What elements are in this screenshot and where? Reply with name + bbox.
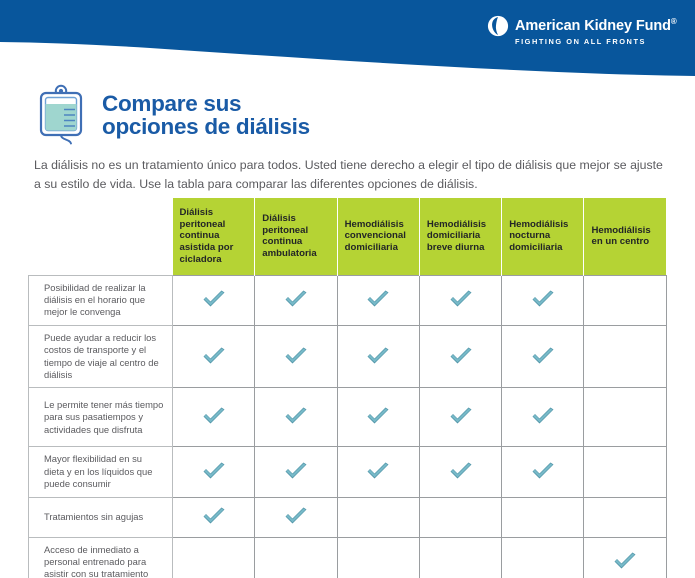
- cell-checked: [502, 325, 584, 388]
- row-label: Mayor flexibilidad en su dieta y en los …: [29, 447, 173, 497]
- cell-checked: [337, 388, 419, 447]
- cell-checked: [419, 447, 501, 497]
- cell-checked: [173, 497, 255, 537]
- logo-text-block: American Kidney Fund® FIGHTING ON ALL FR…: [515, 14, 677, 46]
- checkmark-icon: [283, 507, 309, 527]
- page-title-line2: opciones de diálisis: [102, 115, 310, 138]
- page-title-row: Compare sus opciones de diálisis: [34, 84, 310, 146]
- row-label: Le permite tener más tiempo para sus pas…: [29, 388, 173, 447]
- row-label: Puede ayudar a reducir los costos de tra…: [29, 325, 173, 388]
- checkmark-icon: [530, 347, 556, 367]
- cell-empty: [419, 537, 501, 578]
- iv-bag-icon: [34, 84, 88, 146]
- cell-checked: [173, 447, 255, 497]
- table-head: Diálisis peritoneal continua asistida po…: [29, 198, 667, 275]
- page-title-line1: Compare sus: [102, 92, 310, 115]
- intro-paragraph: La diálisis no es un tratamiento único p…: [34, 156, 666, 194]
- cell-empty: [337, 497, 419, 537]
- cell-empty: [584, 388, 666, 447]
- checkmark-icon: [201, 290, 227, 310]
- table-row: Acceso de inmediato a personal entrenado…: [29, 537, 667, 578]
- cell-empty: [173, 537, 255, 578]
- cell-checked: [502, 388, 584, 447]
- cell-checked: [255, 497, 337, 537]
- cell-empty: [584, 497, 666, 537]
- table-row: Posibilidad de realizar la diálisis en e…: [29, 275, 667, 325]
- checkmark-icon: [365, 347, 391, 367]
- cell-checked: [502, 447, 584, 497]
- cell-checked: [173, 275, 255, 325]
- registered-mark: ®: [671, 17, 677, 26]
- column-header-2: Hemodiálisis convencional domiciliaria: [337, 198, 419, 275]
- cell-checked: [255, 447, 337, 497]
- cell-checked: [337, 325, 419, 388]
- cell-checked: [584, 537, 666, 578]
- table-row: Puede ayudar a reducir los costos de tra…: [29, 325, 667, 388]
- cell-empty: [419, 497, 501, 537]
- checkmark-icon: [530, 407, 556, 427]
- cell-checked: [419, 325, 501, 388]
- checkmark-icon: [530, 290, 556, 310]
- column-header-3: Hemodiálisis domiciliaria breve diurna: [419, 198, 501, 275]
- column-header-5: Hemodiálisis en un centro: [584, 198, 666, 275]
- table-row: Tratamientos sin agujas: [29, 497, 667, 537]
- checkmark-icon: [201, 347, 227, 367]
- table-header-row: Diálisis peritoneal continua asistida po…: [29, 198, 667, 275]
- checkmark-icon: [201, 507, 227, 527]
- cell-empty: [584, 275, 666, 325]
- cell-checked: [173, 325, 255, 388]
- checkmark-icon: [283, 290, 309, 310]
- checkmark-icon: [283, 407, 309, 427]
- checkmark-icon: [365, 462, 391, 482]
- row-label: Acceso de inmediato a personal entrenado…: [29, 537, 173, 578]
- cell-checked: [337, 275, 419, 325]
- table-row: Le permite tener más tiempo para sus pas…: [29, 388, 667, 447]
- cell-checked: [419, 275, 501, 325]
- checkmark-icon: [365, 407, 391, 427]
- checkmark-icon: [448, 462, 474, 482]
- logo: American Kidney Fund® FIGHTING ON ALL FR…: [487, 14, 662, 50]
- table-corner-cell: [29, 198, 173, 275]
- checkmark-icon: [365, 290, 391, 310]
- cell-empty: [502, 497, 584, 537]
- column-header-0: Diálisis peritoneal continua asistida po…: [173, 198, 255, 275]
- cell-checked: [502, 275, 584, 325]
- cell-empty: [584, 325, 666, 388]
- cell-checked: [255, 275, 337, 325]
- row-label: Posibilidad de realizar la diálisis en e…: [29, 275, 173, 325]
- cell-empty: [337, 537, 419, 578]
- cell-empty: [584, 447, 666, 497]
- page-title: Compare sus opciones de diálisis: [102, 92, 310, 138]
- cell-checked: [419, 388, 501, 447]
- page-root: American Kidney Fund® FIGHTING ON ALL FR…: [0, 0, 695, 578]
- cell-checked: [173, 388, 255, 447]
- checkmark-icon: [448, 290, 474, 310]
- table-body: Posibilidad de realizar la diálisis en e…: [29, 275, 667, 578]
- cell-checked: [255, 388, 337, 447]
- column-header-4: Hemodiálisis nocturna domiciliaria: [502, 198, 584, 275]
- logo-tagline: FIGHTING ON ALL FRONTS: [515, 37, 677, 46]
- checkmark-icon: [283, 347, 309, 367]
- kidney-logo-icon: [487, 15, 509, 37]
- checkmark-icon: [448, 407, 474, 427]
- checkmark-icon: [612, 552, 638, 572]
- cell-empty: [502, 537, 584, 578]
- checkmark-icon: [530, 462, 556, 482]
- checkmark-icon: [283, 462, 309, 482]
- checkmark-icon: [201, 407, 227, 427]
- cell-checked: [337, 447, 419, 497]
- dialysis-comparison-table: Diálisis peritoneal continua asistida po…: [28, 198, 667, 578]
- row-label: Tratamientos sin agujas: [29, 497, 173, 537]
- cell-empty: [255, 537, 337, 578]
- checkmark-icon: [201, 462, 227, 482]
- column-header-1: Diálisis peritoneal continua ambulatoria: [255, 198, 337, 275]
- checkmark-icon: [448, 347, 474, 367]
- logo-name: American Kidney Fund®: [515, 14, 677, 34]
- table-row: Mayor flexibilidad en su dieta y en los …: [29, 447, 667, 497]
- cell-checked: [255, 325, 337, 388]
